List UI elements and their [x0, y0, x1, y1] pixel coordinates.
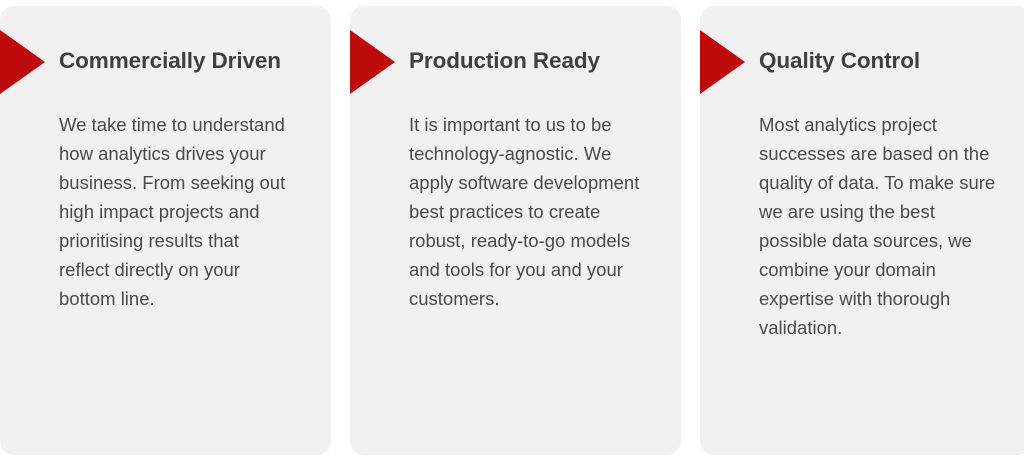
card-body-text: It is important to us to be technology-a… — [409, 110, 649, 313]
card-title: Production Ready — [409, 46, 667, 76]
right-triangle-arrow-icon — [350, 30, 395, 94]
card-quality-control: Quality Control Most analytics project s… — [700, 6, 1024, 455]
card-body-text: We take time to understand how analytics… — [59, 110, 291, 313]
card-title: Quality Control — [759, 46, 1017, 76]
value-proposition-cards: Commercially Driven We take time to unde… — [0, 0, 1024, 463]
right-triangle-arrow-icon — [700, 30, 745, 94]
card-body-text: Most analytics project successes are bas… — [759, 110, 999, 342]
right-triangle-arrow-icon — [0, 30, 45, 94]
card-title: Commercially Driven — [59, 46, 317, 76]
card-production-ready: Production Ready It is important to us t… — [350, 6, 681, 455]
card-commercially-driven: Commercially Driven We take time to unde… — [0, 6, 331, 455]
